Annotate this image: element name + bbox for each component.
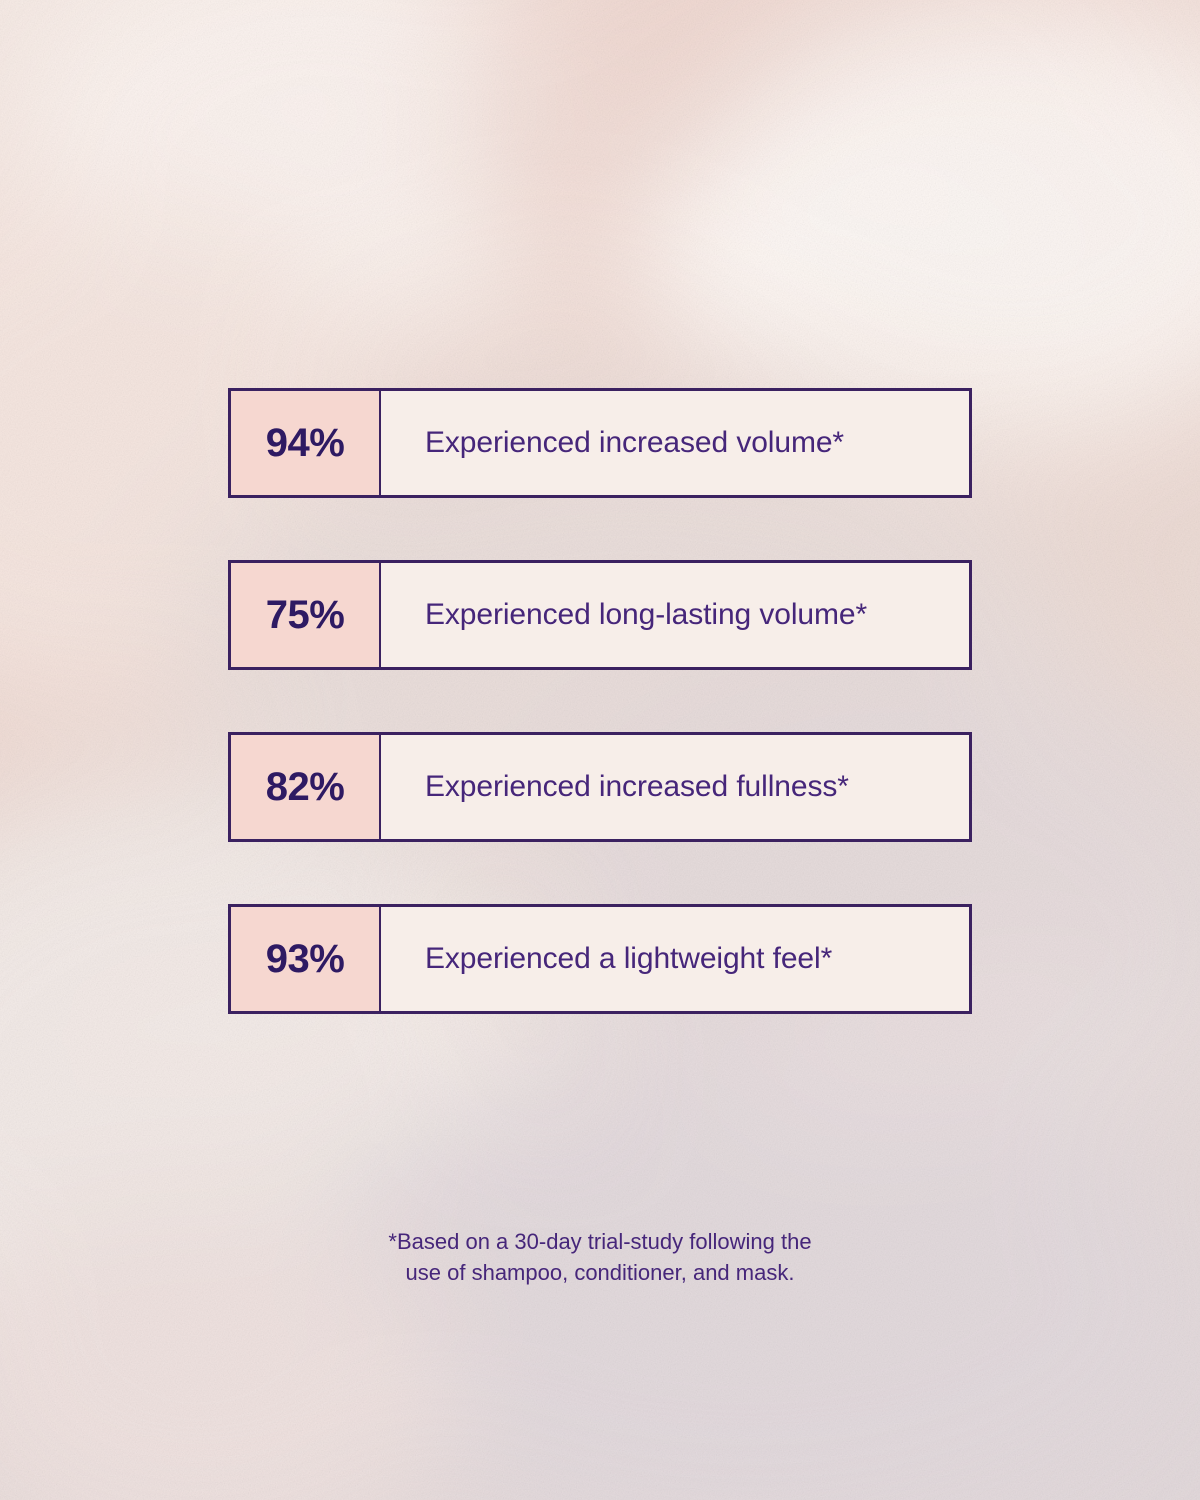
stat-percent-value: 93% [266,939,345,979]
stat-percent-cell: 75% [231,563,381,667]
footnote: *Based on a 30-day trial-study following… [0,1226,1200,1288]
stat-label-cell: Experienced increased fullness* [381,735,969,839]
stat-label-cell: Experienced increased volume* [381,391,969,495]
stat-label-text: Experienced increased fullness* [425,770,849,805]
stat-label-text: Experienced a lightweight feel* [425,942,832,977]
stat-percent-cell: 93% [231,907,381,1011]
stat-percent-value: 75% [266,595,345,635]
stat-label-text: Experienced long-lasting volume* [425,598,867,633]
stat-percent-value: 82% [266,767,345,807]
stat-percent-cell: 82% [231,735,381,839]
stat-row: 93% Experienced a lightweight feel* [228,904,972,1014]
stats-list: 94% Experienced increased volume* 75% Ex… [228,388,972,1076]
stat-label-text: Experienced increased volume* [425,426,844,461]
stat-percent-cell: 94% [231,391,381,495]
footnote-line-2: use of shampoo, conditioner, and mask. [0,1257,1200,1288]
stat-row: 94% Experienced increased volume* [228,388,972,498]
stat-label-cell: Experienced a lightweight feel* [381,907,969,1011]
stat-row: 82% Experienced increased fullness* [228,732,972,842]
stat-row: 75% Experienced long-lasting volume* [228,560,972,670]
stat-percent-value: 94% [266,423,345,463]
stat-label-cell: Experienced long-lasting volume* [381,563,969,667]
footnote-line-1: *Based on a 30-day trial-study following… [0,1226,1200,1257]
stat-graphic: 94% Experienced increased volume* 75% Ex… [0,0,1200,1500]
